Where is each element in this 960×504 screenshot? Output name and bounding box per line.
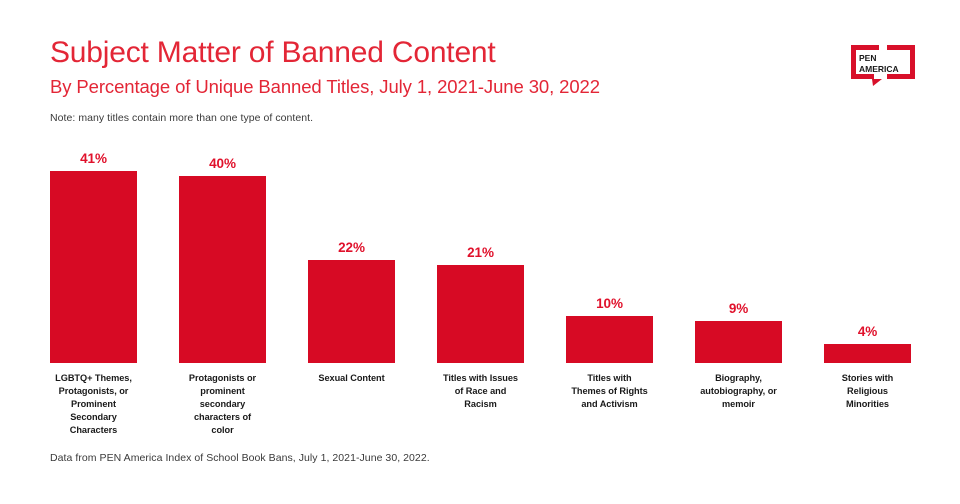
bar-value-label: 41%	[50, 151, 137, 166]
bar-value-label: 4%	[824, 324, 911, 339]
bar-category-label-line: autobiography, or	[681, 385, 796, 398]
bar-category-label-line: of Race and	[423, 385, 538, 398]
bar-category-label-line: Religious	[810, 385, 925, 398]
bar-rect[interactable]	[824, 344, 911, 363]
bar-group[interactable]: 40%Protagonists orprominentsecondarychar…	[179, 140, 266, 440]
bar-rect[interactable]	[50, 171, 137, 363]
logo-text-line1: PEN	[859, 53, 876, 63]
chart-source-note: Data from PEN America Index of School Bo…	[50, 452, 430, 464]
bar-rect[interactable]	[437, 265, 524, 363]
bar-category-label-line: Characters	[36, 424, 151, 437]
chart-subtitle: By Percentage of Unique Banned Titles, J…	[50, 75, 790, 98]
bar-category-label: LGBTQ+ Themes,Protagonists, orProminentS…	[36, 368, 151, 440]
bar-rect[interactable]	[308, 260, 395, 363]
chart-note: Note: many titles contain more than one …	[50, 112, 790, 124]
bar-rect[interactable]	[695, 321, 782, 363]
bar-value-label: 22%	[308, 240, 395, 255]
bar-category-label-line: Sexual Content	[294, 372, 409, 385]
bar-category-label: Protagonists orprominentsecondarycharact…	[165, 368, 280, 440]
bar-category-label-line: Stories with	[810, 372, 925, 385]
bar-chart-plot-area: 41%LGBTQ+ Themes,Protagonists, orPromine…	[50, 140, 916, 440]
bar-category-label-line: Protagonists or	[165, 372, 280, 385]
bar-category-label-line: Minorities	[810, 398, 925, 411]
chart-header: Subject Matter of Banned Content By Perc…	[50, 36, 790, 124]
bar-group[interactable]: 21%Titles with Issuesof Race andRacism	[437, 140, 524, 440]
bar-category-label-line: Protagonists, or	[36, 385, 151, 398]
bar-value-label: 40%	[179, 156, 266, 171]
bar-category-label: Titles withThemes of Rightsand Activism	[552, 368, 667, 440]
bar-category-label-line: Biography,	[681, 372, 796, 385]
bar-category-label-line: characters of	[165, 411, 280, 424]
bar-group[interactable]: 4%Stories withReligiousMinorities	[824, 140, 911, 440]
bar-category-label: Titles with Issuesof Race andRacism	[423, 368, 538, 440]
bar-category-label-line: secondary	[165, 398, 280, 411]
bar-category-label-line: prominent	[165, 385, 280, 398]
page-title: Subject Matter of Banned Content	[50, 36, 790, 70]
bar-category-label-line: Prominent	[36, 398, 151, 411]
bar-rect[interactable]	[179, 176, 266, 363]
bar-category-label-line: Titles with	[552, 372, 667, 385]
bar-category-label-line: Secondary	[36, 411, 151, 424]
bar-group[interactable]: 9%Biography,autobiography, ormemoir	[695, 140, 782, 440]
bar-category-label-line: LGBTQ+ Themes,	[36, 372, 151, 385]
bar-category-label-line: Racism	[423, 398, 538, 411]
bar-category-label-line: memoir	[681, 398, 796, 411]
bar-group[interactable]: 10%Titles withThemes of Rightsand Activi…	[566, 140, 653, 440]
bar-category-label-line: and Activism	[552, 398, 667, 411]
bar-category-label-line: Titles with Issues	[423, 372, 538, 385]
bar-category-label-line: color	[165, 424, 280, 437]
bar-value-label: 10%	[566, 296, 653, 311]
bar-category-label: Stories withReligiousMinorities	[810, 368, 925, 440]
bar-group[interactable]: 41%LGBTQ+ Themes,Protagonists, orPromine…	[50, 140, 137, 440]
bar-value-label: 21%	[437, 245, 524, 260]
pen-america-logo: PEN AMERICA	[848, 40, 918, 88]
bar-category-label-line: Themes of Rights	[552, 385, 667, 398]
logo-text-line2: AMERICA	[859, 64, 899, 74]
bar-category-label: Biography,autobiography, ormemoir	[681, 368, 796, 440]
bar-category-label: Sexual Content	[294, 368, 409, 440]
chart-page: Subject Matter of Banned Content By Perc…	[0, 0, 960, 504]
bar-value-label: 9%	[695, 301, 782, 316]
bar-group[interactable]: 22%Sexual Content	[308, 140, 395, 440]
bar-rect[interactable]	[566, 316, 653, 363]
